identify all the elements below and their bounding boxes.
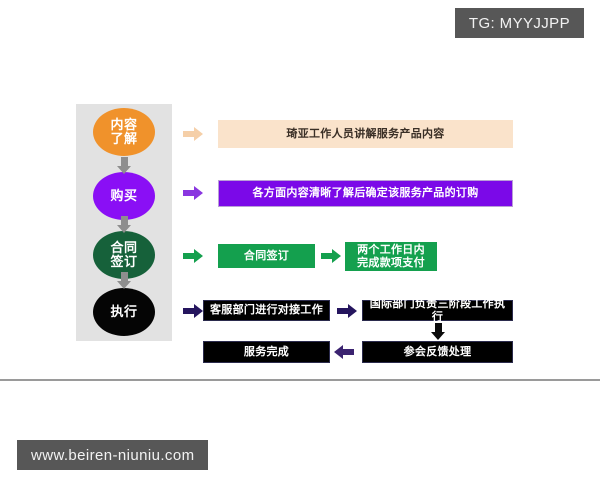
flow-box-customer-service-docking[interactable]: 客服部门进行对接工作 xyxy=(203,300,330,321)
horizontal-divider xyxy=(0,379,600,381)
row-arrow-left-icon xyxy=(334,345,354,359)
flow-box-payment-two-days[interactable]: 两个工作日内 完成款项支付 xyxy=(345,242,437,271)
stage-label-line2: 了解 xyxy=(110,132,137,146)
flow-box-text: 国际部门负责三阶段工作执行 xyxy=(363,298,512,324)
connector-down-arrow-icon xyxy=(117,216,131,233)
row-arrow-right-icon xyxy=(337,304,357,318)
connector-down-arrow-icon xyxy=(117,272,131,289)
flow-box-meeting-feedback[interactable]: 参会反馈处理 xyxy=(362,341,513,363)
stage-label-line1: 内容 xyxy=(110,118,137,132)
flow-box-text: 服务完成 xyxy=(238,346,295,359)
flow-box-service-complete[interactable]: 服务完成 xyxy=(203,341,330,363)
row-arrow-right-icon xyxy=(183,127,203,141)
flow-box-text-line2: 完成款项支付 xyxy=(357,257,425,270)
flow-box-confirm-order[interactable]: 各方面内容清晰了解后确定该服务产品的订购 xyxy=(218,180,513,207)
stage-node-understand[interactable]: 内容 了解 xyxy=(93,108,155,156)
flow-box-text: 参会反馈处理 xyxy=(398,346,478,359)
row-arrow-right-icon xyxy=(321,249,341,263)
row-arrow-right-icon xyxy=(183,186,203,200)
flow-box-text-line1: 两个工作日内 xyxy=(357,244,425,257)
stage-node-execute[interactable]: 执行 xyxy=(93,288,155,336)
flow-box-text: 琦亚工作人员讲解服务产品内容 xyxy=(280,128,450,141)
stage-node-purchase[interactable]: 购买 xyxy=(93,172,155,220)
row-arrow-right-icon xyxy=(183,304,203,318)
flowchart: 内容 了解 购买 合同 签订 执行 琦亚工作人员讲解服务产品内容 各方面内容清晰… xyxy=(0,0,600,379)
connector-down-arrow-icon xyxy=(431,323,445,340)
stage-label-line1: 执行 xyxy=(110,305,137,319)
flow-box-contract-signing[interactable]: 合同签订 xyxy=(218,244,315,268)
stage-label-line1: 购买 xyxy=(110,189,137,203)
flow-box-text: 客服部门进行对接工作 xyxy=(204,304,329,317)
flow-box-international-dept-execution[interactable]: 国际部门负责三阶段工作执行 xyxy=(362,300,513,321)
stage-label-line1: 合同 xyxy=(110,241,137,255)
flow-box-text: 合同签订 xyxy=(238,250,295,263)
flow-box-text: 各方面内容清晰了解后确定该服务产品的订购 xyxy=(247,187,485,200)
connector-down-arrow-icon xyxy=(117,157,131,174)
watermark-website: www.beiren-niuniu.com xyxy=(17,440,208,470)
row-arrow-right-icon xyxy=(183,249,203,263)
watermark-telegram: TG: MYYJJPP xyxy=(455,8,584,38)
flow-box-explain-service[interactable]: 琦亚工作人员讲解服务产品内容 xyxy=(218,120,513,148)
stage-label-line2: 签订 xyxy=(110,255,137,269)
